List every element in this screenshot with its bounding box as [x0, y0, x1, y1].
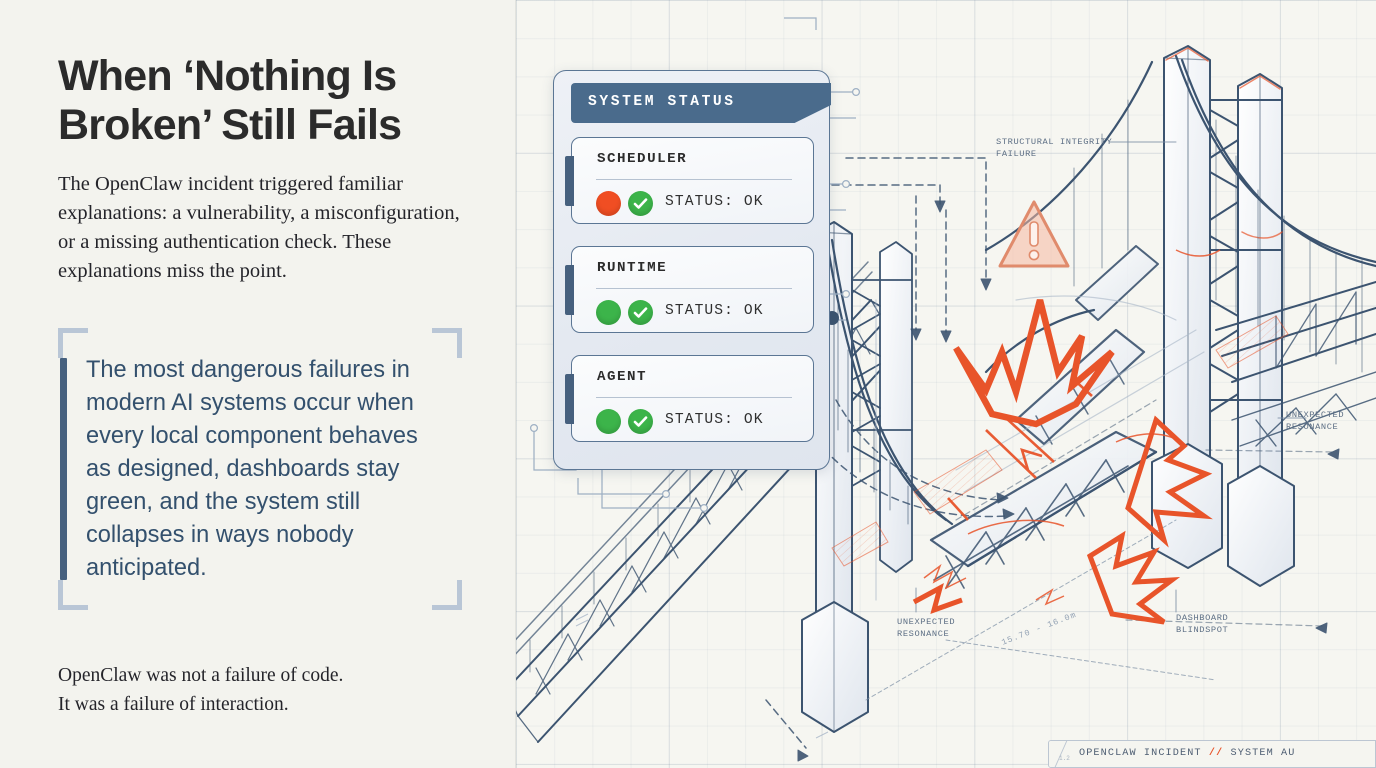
annotation-dashboard-blindspot: DASHBOARD BLINDSPOT: [1176, 612, 1228, 637]
annotation-unexpected-resonance-left: UNEXPECTED RESONANCE: [897, 616, 955, 641]
component-name: RUNTIME: [597, 260, 667, 276]
corner-bracket-top-left-icon: [58, 328, 88, 358]
status-check-icon: [628, 191, 653, 216]
component-name: AGENT: [597, 369, 647, 385]
lede-paragraph: The OpenClaw incident triggered familiar…: [58, 170, 468, 286]
closing-paragraph: OpenClaw was not a failure of code. It w…: [58, 662, 478, 719]
status-card-scheduler[interactable]: SCHEDULERSTATUS: OK: [571, 137, 814, 224]
card-divider: [596, 288, 792, 289]
quote-accent-bar: [60, 358, 67, 580]
card-divider: [596, 179, 792, 180]
footer-section: SYSTEM AU: [1231, 748, 1296, 759]
card-edge-tab: [565, 374, 574, 424]
footer-separator: //: [1209, 748, 1223, 759]
card-edge-tab: [565, 265, 574, 315]
pull-quote-text: The most dangerous failures in modern AI…: [86, 354, 446, 585]
status-text: STATUS: OK: [665, 194, 764, 210]
annotation-structural-integrity-failure: STRUCTURAL INTEGRITY FAILURE: [996, 136, 1112, 161]
annotation-unexpected-resonance-right: UNEXPECTED RESONANCE: [1286, 409, 1344, 434]
footer-label: OPENCLAW INCIDENT // SYSTEM AU: [1079, 748, 1295, 759]
footer-project-tag: 1.2 OPENCLAW INCIDENT // SYSTEM AU: [1048, 740, 1376, 768]
component-name: SCHEDULER: [597, 151, 687, 167]
status-text: STATUS: OK: [665, 412, 764, 428]
warning-triangle-icon: [986, 192, 1082, 276]
status-indicator-dot: [596, 300, 621, 325]
status-check-icon: [628, 409, 653, 434]
status-check-icon: [628, 300, 653, 325]
system-status-panel[interactable]: SYSTEM STATUS SCHEDULERSTATUS: OKRUNTIME…: [553, 70, 830, 470]
status-text: STATUS: OK: [665, 303, 764, 319]
corner-bracket-bottom-left-icon: [58, 580, 88, 610]
card-divider: [596, 397, 792, 398]
article-text-column: When ‘Nothing Is Broken’ Still Fails The…: [0, 0, 516, 768]
footer-project: OPENCLAW INCIDENT: [1079, 748, 1202, 759]
infographic-canvas: When ‘Nothing Is Broken’ Still Fails The…: [0, 0, 1376, 768]
status-indicator-dot: [596, 409, 621, 434]
card-edge-tab: [565, 156, 574, 206]
status-panel-title: SYSTEM STATUS: [588, 94, 736, 110]
footer-tick-marks: 1.2: [1059, 755, 1070, 762]
status-card-agent[interactable]: AGENTSTATUS: OK: [571, 355, 814, 442]
status-card-runtime[interactable]: RUNTIMESTATUS: OK: [571, 246, 814, 333]
status-indicator-dot: [596, 191, 621, 216]
page-title: When ‘Nothing Is Broken’ Still Fails: [58, 52, 478, 149]
pull-quote: The most dangerous failures in modern AI…: [58, 328, 462, 610]
